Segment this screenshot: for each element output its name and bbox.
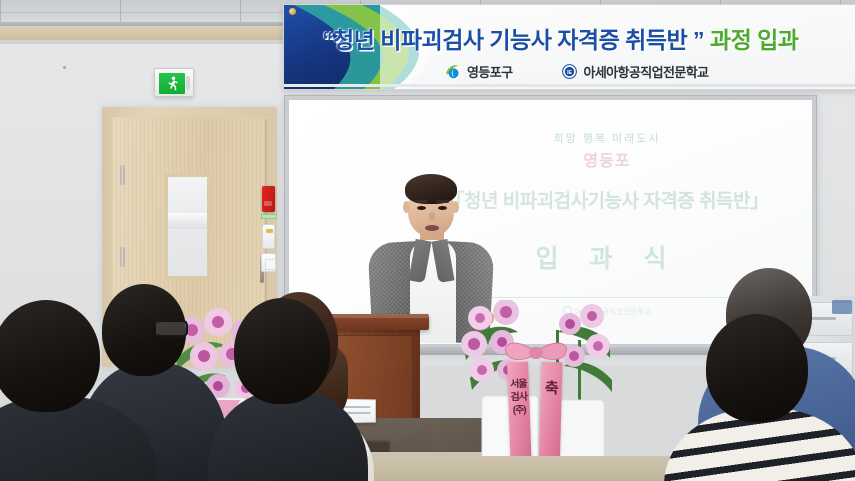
speaker-mouth [425,225,439,231]
speaker-eye-left [417,206,426,210]
audience-3-head [234,298,330,404]
wall-mark [63,66,66,69]
speaker-eyebrow-right [436,200,449,203]
banner-logo-row: 영등포구 IE 아세아항공직업전문학교 [444,62,708,81]
eyeglasses-icon [156,320,188,337]
banner-grommet [289,8,296,15]
audience-member-front-left [0,300,132,481]
exit-sign-side-vent [186,76,190,90]
speaker-nose [429,212,435,221]
speaker-eye-right [438,206,447,210]
door-glass-panel [165,174,210,279]
logo-yeongdeungpo: 영등포구 [444,62,512,81]
audience-6-head [706,314,808,422]
logo-asea: IE 아세아항공직업전문학교 [562,62,708,81]
running-man-icon [166,76,179,91]
photo-scene: “청년 비파괴검사 기능사 자격증 취득반 ” 과정 입과 영등포구 IE 아세… [0,0,855,481]
audience-1-head [0,300,100,412]
door-hinge-upper [120,165,125,185]
light-switch[interactable] [261,253,276,272]
banner-bottom-edge [284,84,855,87]
audience-member-striped-shirt [690,314,840,481]
exit-sign [154,68,194,97]
audience-member-navy-center [214,298,350,481]
speaker-eyebrow-left [415,200,428,203]
banner-title-quoted: “청년 비파괴검사 기능사 자격증 취득반 ” [322,27,704,53]
banner-title: “청년 비파괴검사 기능사 자격증 취득반 ” 과정 입과 [322,21,855,55]
fire-alarm-label [261,214,277,219]
wall-trim-shadow [0,40,290,44]
intercom-panel[interactable] [262,224,275,249]
ribbon-text-left: 서울검사(주) [508,378,530,418]
speaker-ear-left [403,201,410,213]
wall-wood-trim [0,26,290,40]
ribbon-text-right: 축 [541,382,562,396]
door-hinge-lower [120,247,125,267]
exit-sign-panel [159,73,185,94]
speaker-ear-right [452,201,459,213]
asea-aviation-school-logo-icon: IE [562,64,577,79]
logo-yeongdeungpo-label: 영등포구 [467,62,512,81]
event-banner: “청년 비파괴검사 기능사 자격증 취득반 ” 과정 입과 영등포구 IE 아세… [283,4,855,90]
banner-title-suffix: 과정 입과 [710,27,799,53]
fire-alarm[interactable] [262,186,275,212]
yeongdeungpo-gu-logo-icon [444,63,461,80]
speaker-hair [405,174,457,204]
svg-text:IE: IE [568,70,573,76]
logo-asea-label: 아세아항공직업전문학교 [583,62,708,81]
